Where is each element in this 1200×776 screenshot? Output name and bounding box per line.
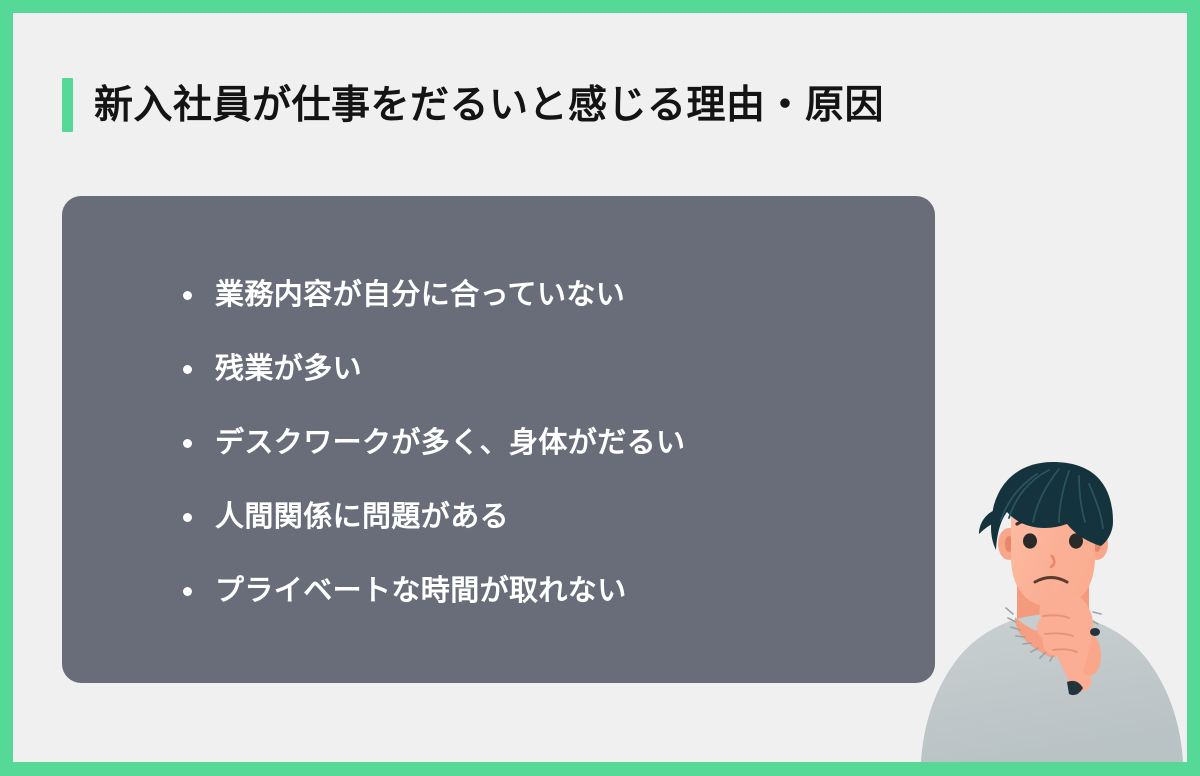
list-item-label: デスクワークが多く、身体がだるい (215, 429, 685, 458)
reasons-list: 業務内容が自分に合っていない 残業が多い デスクワークが多く、身体がだるい 人間… (183, 258, 685, 628)
slide-frame: 新入社員が仕事をだるいと感じる理由・原因 業務内容が自分に合っていない 残業が多… (0, 0, 1200, 776)
slide-content-area: 新入社員が仕事をだるいと感じる理由・原因 業務内容が自分に合っていない 残業が多… (13, 13, 1187, 762)
thinking-man-illustration (917, 436, 1187, 762)
page-title: 新入社員が仕事をだるいと感じる理由・原因 (94, 86, 884, 125)
bullet-icon (183, 513, 192, 522)
list-item-label: 業務内容が自分に合っていない (215, 281, 625, 310)
slide-header: 新入社員が仕事をだるいと感じる理由・原因 (62, 72, 884, 138)
list-item-label: プライベートな時間が取れない (215, 577, 627, 606)
bullet-icon (183, 587, 192, 596)
bullet-icon (183, 365, 192, 374)
list-item: 業務内容が自分に合っていない (183, 258, 685, 332)
bullet-icon (183, 291, 192, 300)
list-item: プライベートな時間が取れない (183, 554, 685, 628)
list-item-label: 人間関係に問題がある (215, 503, 509, 532)
list-item: 人間関係に問題がある (183, 480, 685, 554)
reasons-card: 業務内容が自分に合っていない 残業が多い デスクワークが多く、身体がだるい 人間… (62, 196, 935, 683)
list-item: 残業が多い (183, 332, 685, 406)
title-accent-bar (62, 78, 73, 132)
list-item: デスクワークが多く、身体がだるい (183, 406, 685, 480)
list-item-label: 残業が多い (215, 355, 362, 384)
bullet-icon (183, 439, 192, 448)
